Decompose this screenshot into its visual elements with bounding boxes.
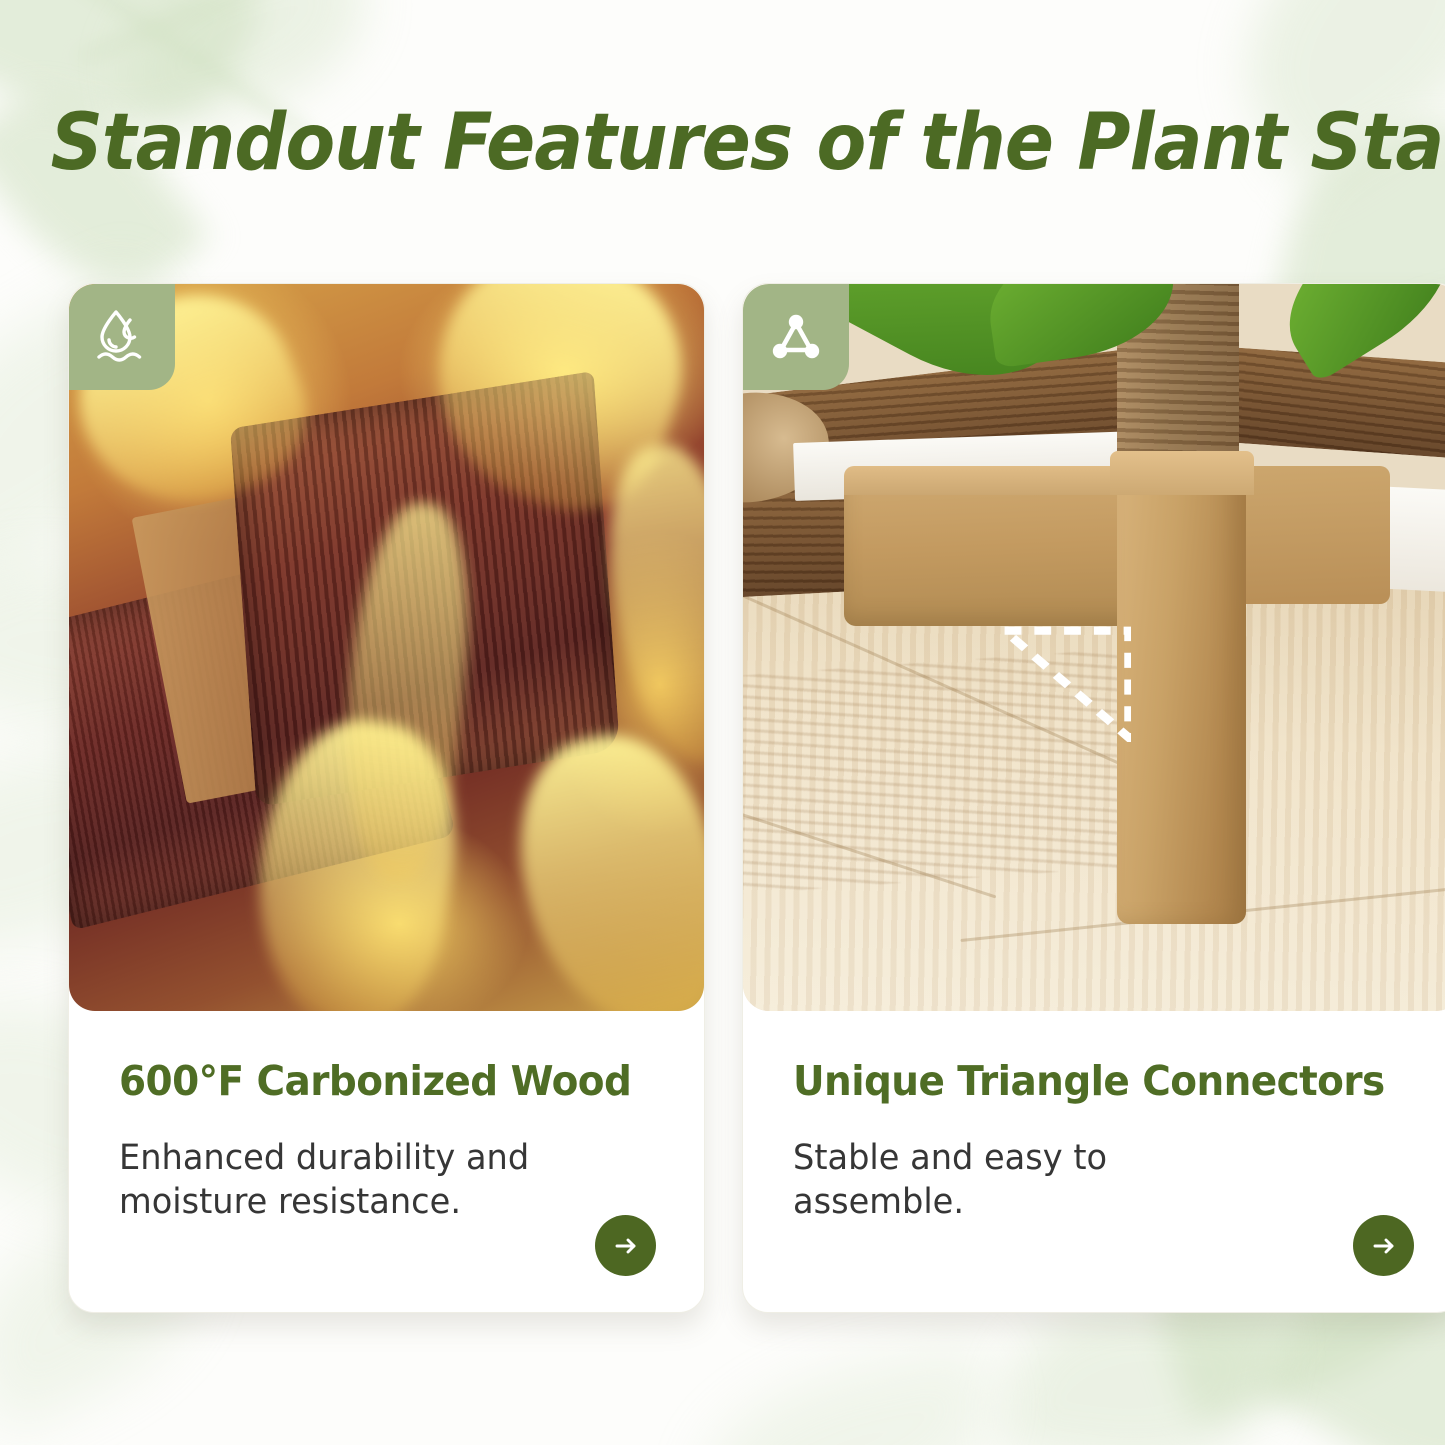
connector-right-arm [1232, 466, 1390, 604]
dashed-triangle-overlay [1002, 626, 1131, 742]
feature-card-title: Unique Triangle Connectors [793, 1057, 1385, 1105]
feature-card-description: Enhanced durability and moisture resista… [119, 1136, 570, 1224]
feature-card-body: 600°F Carbonized Wood Enhanced durabilit… [69, 1011, 704, 1312]
water-drop-wave-icon [69, 284, 175, 390]
feature-card-description: Stable and easy to assemble. [793, 1136, 1244, 1224]
triangle-nodes-icon [743, 284, 849, 390]
arrow-right-icon[interactable] [595, 1215, 656, 1276]
page-title: Standout Features of the Plant Stand [51, 98, 1395, 188]
connector-top-cap [1110, 451, 1254, 495]
feature-card-triangle-connectors[interactable]: Unique Triangle Connectors Stable and ea… [742, 283, 1445, 1313]
feature-photo-burning-wood [69, 284, 704, 1011]
leaf-stem [77, 0, 303, 63]
feature-card-list: 600°F Carbonized Wood Enhanced durabilit… [68, 283, 1378, 1313]
arrow-right-icon[interactable] [1353, 1215, 1414, 1276]
leaf-shape [688, 1340, 1013, 1445]
feature-card-title: 600°F Carbonized Wood [119, 1057, 631, 1105]
feature-card-body: Unique Triangle Connectors Stable and ea… [743, 1011, 1445, 1312]
infographic-canvas: Standout Features of the Plant Stand [0, 0, 1445, 1445]
connector-vertical-leg [1117, 458, 1246, 923]
feature-card-carbonized-wood[interactable]: 600°F Carbonized Wood Enhanced durabilit… [68, 283, 705, 1313]
feature-photo-triangle-connector [743, 284, 1445, 1011]
